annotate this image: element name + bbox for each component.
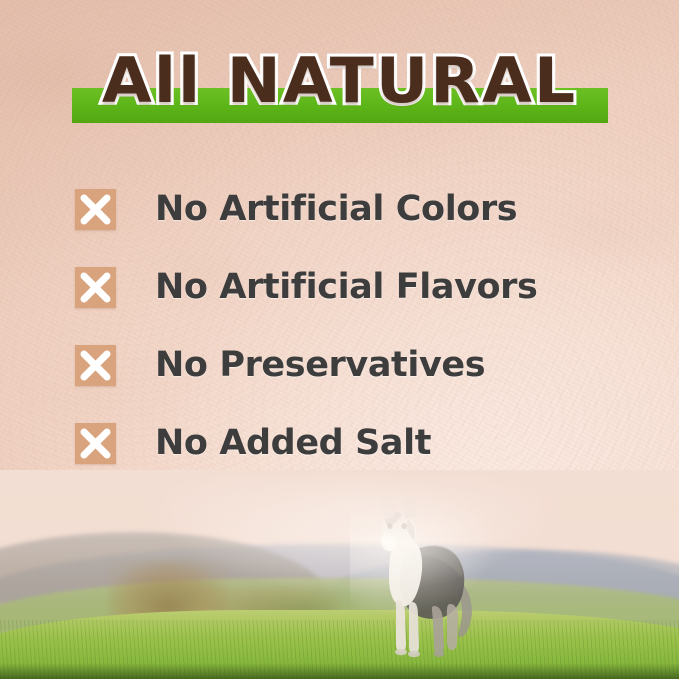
grass-bottom-edge — [0, 663, 679, 679]
title-banner: All NATURAL — [0, 46, 679, 136]
all-natural-poster: All NATURAL No Artificial Colors — [0, 0, 679, 679]
x-mark-icon — [75, 345, 116, 386]
x-mark-icon — [75, 189, 116, 230]
page-title: All NATURAL — [0, 46, 679, 116]
x-mark-icon — [75, 423, 116, 464]
claim-row: No Preservatives — [0, 326, 679, 404]
claim-row: No Artificial Colors — [0, 170, 679, 248]
claims-list: No Artificial Colors No Artificial Flavo… — [0, 170, 679, 482]
dog-illustration — [356, 492, 484, 660]
claim-label: No Artificial Flavors — [155, 267, 537, 308]
x-mark-icon — [75, 267, 116, 308]
claim-label: No Artificial Colors — [155, 189, 517, 230]
claim-label: No Added Salt — [155, 423, 431, 464]
claim-label: No Preservatives — [155, 345, 485, 386]
claim-row: No Artificial Flavors — [0, 248, 679, 326]
landscape-photo — [0, 470, 679, 679]
